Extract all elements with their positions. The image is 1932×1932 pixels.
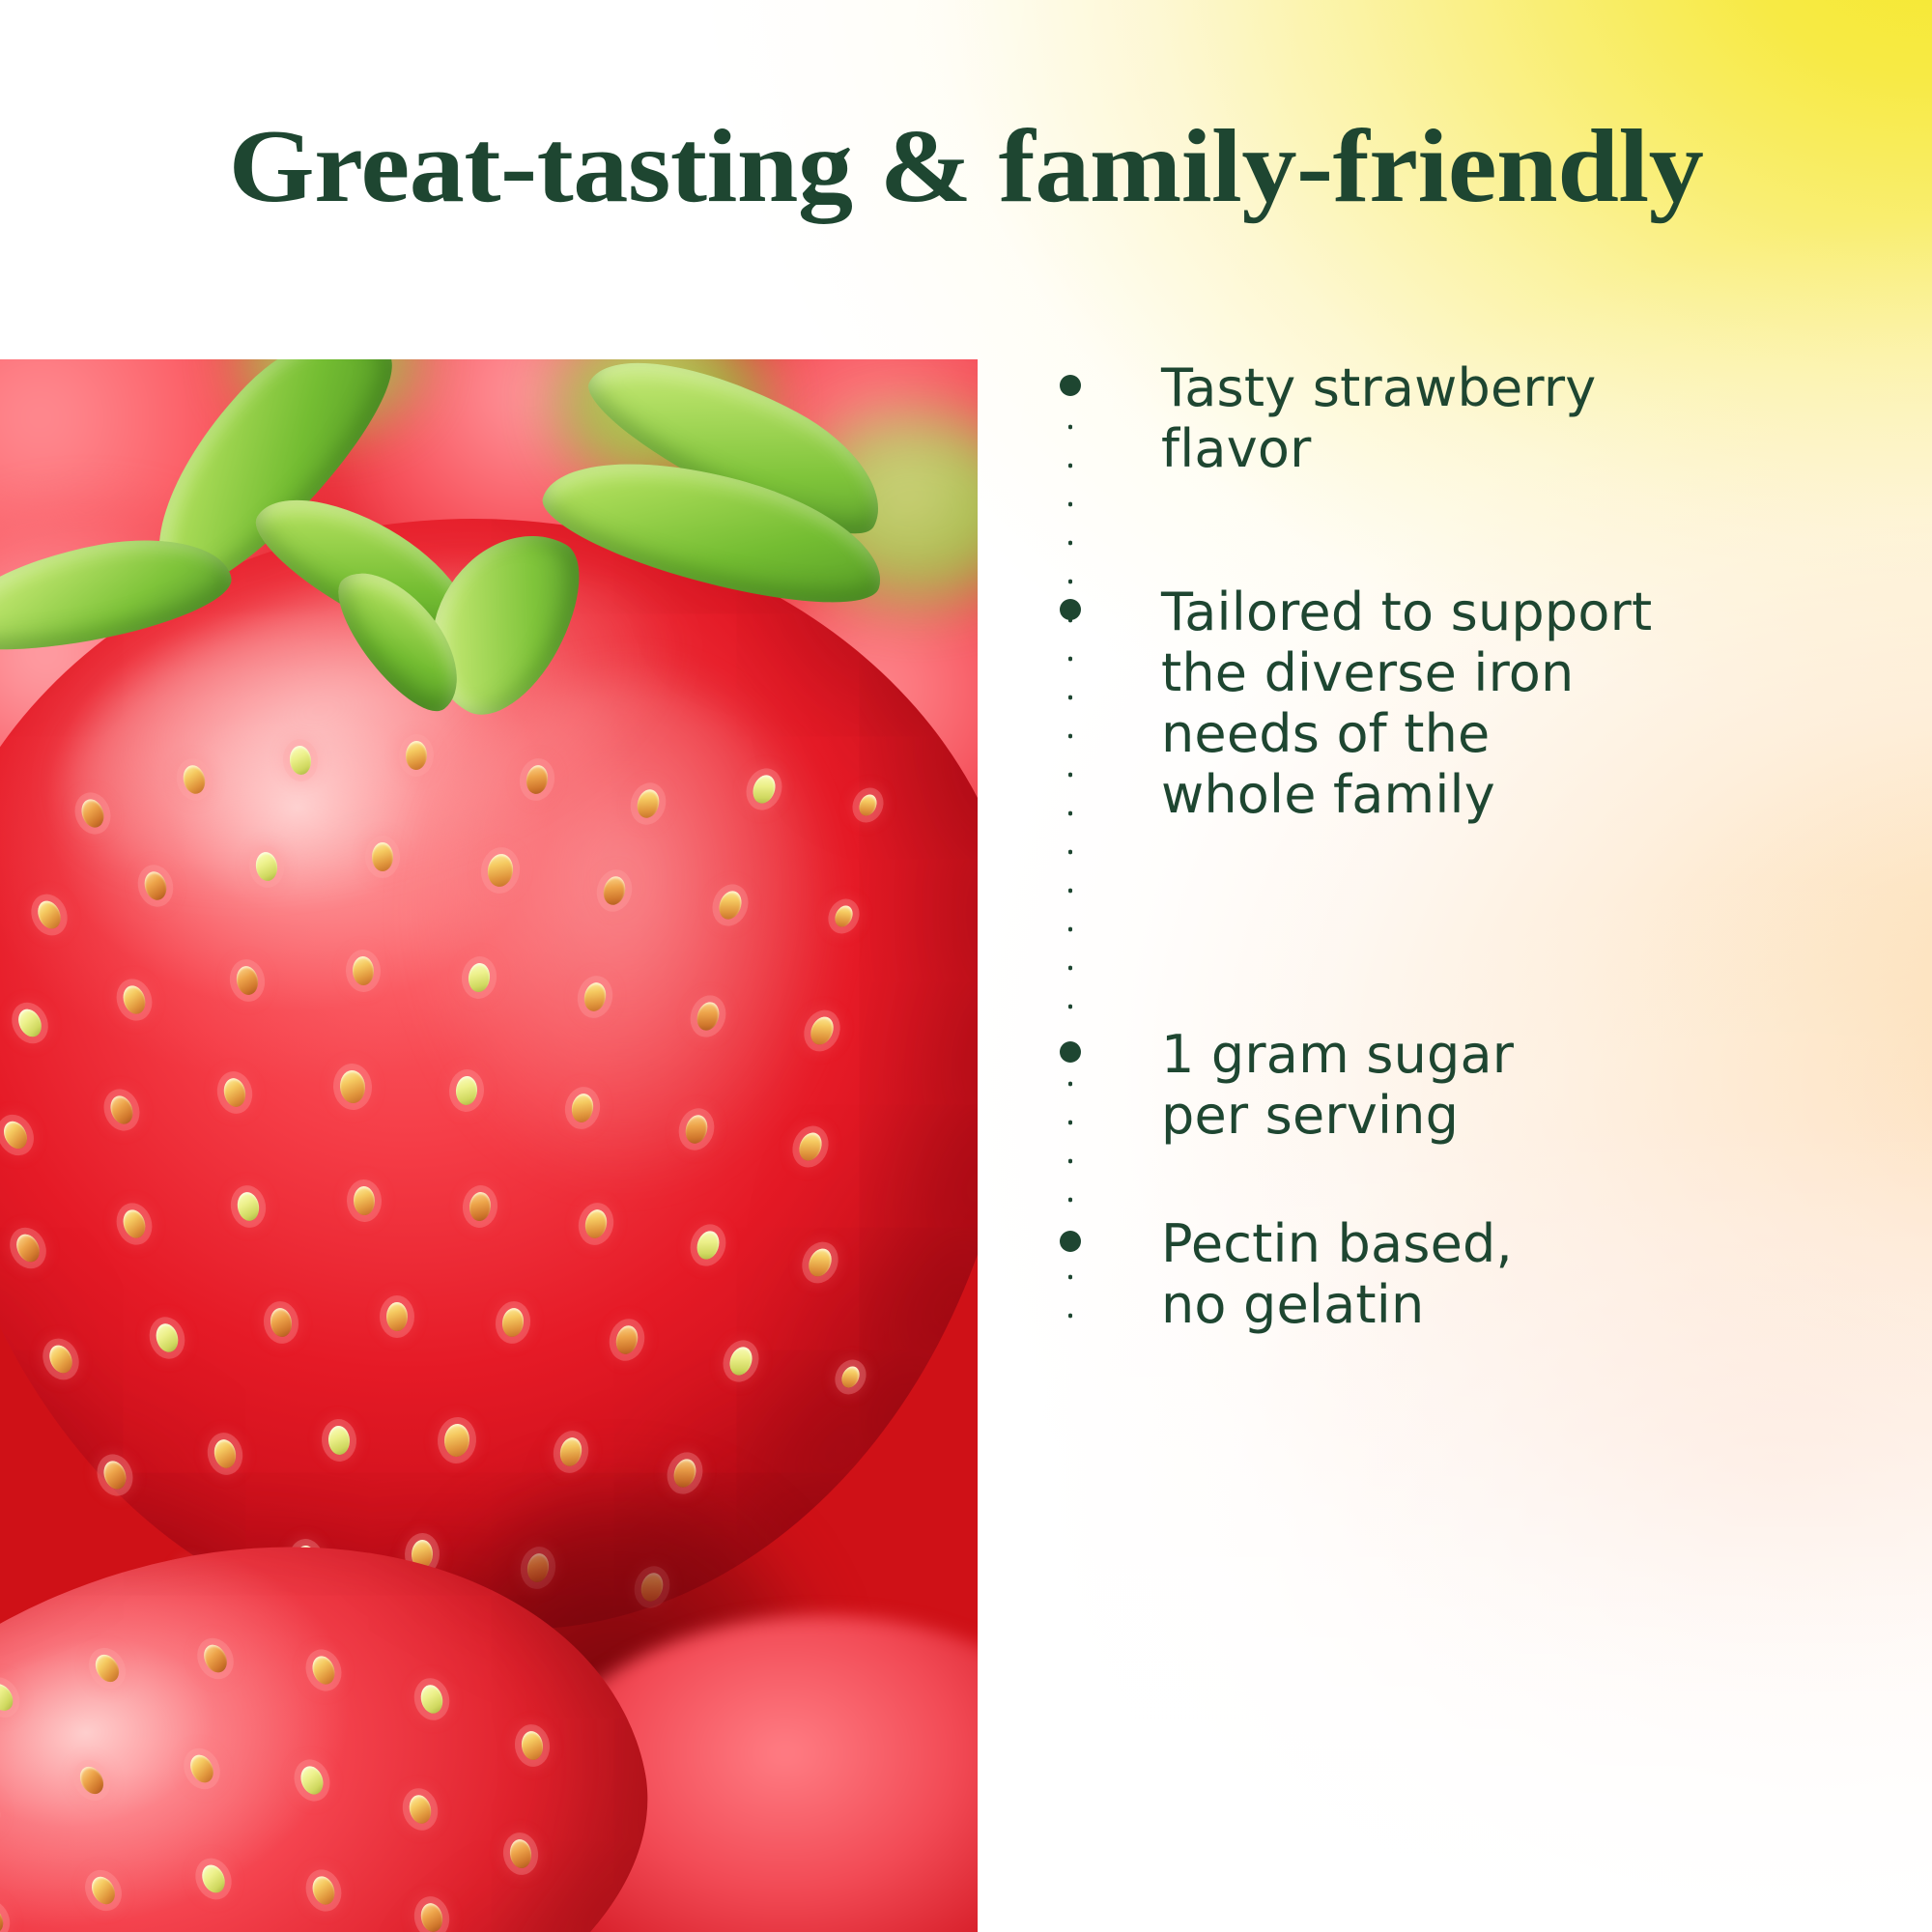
list-item-label: Pectin based, no gelatin [1161, 1213, 1513, 1335]
list-item-label: 1 gram sugar per serving [1161, 1024, 1514, 1146]
bullet-dot-icon [1060, 1041, 1081, 1063]
list-item: Pectin based, no gelatin [1053, 1213, 1513, 1335]
page-title: Great-tasting & family-friendly [0, 114, 1932, 220]
bullet-dot-icon [1060, 1231, 1081, 1252]
list-item-label: Tailored to support the diverse iron nee… [1161, 582, 1652, 825]
list-item: Tasty strawberry flavor [1053, 357, 1596, 479]
strawberry-photo [0, 359, 978, 1932]
list-item: Tailored to support the diverse iron nee… [1053, 582, 1652, 825]
promo-canvas: Great-tasting & family-friendly [0, 0, 1932, 1932]
list-item-label: Tasty strawberry flavor [1161, 357, 1596, 479]
bullet-dot-icon [1060, 599, 1081, 620]
foreground-berry-seeds [0, 359, 978, 1932]
bullet-dot-icon [1060, 375, 1081, 396]
dotted-connector-line [1068, 369, 1072, 1335]
strawberry-photo-inner [0, 359, 978, 1932]
list-item: 1 gram sugar per serving [1053, 1024, 1514, 1146]
